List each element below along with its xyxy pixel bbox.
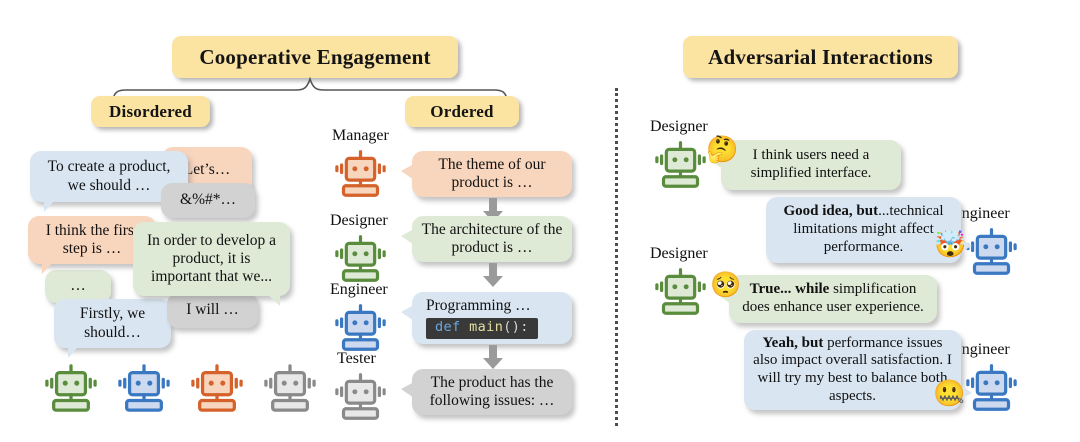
cooperative-engagement-title: Cooperative Engagement	[172, 36, 458, 78]
figure-canvas: Cooperative Engagement Disordered Ordere…	[0, 0, 1080, 442]
robot-icon-blue	[115, 362, 173, 414]
adversarial-bubble-4: Yeah, but performance issues also impact…	[744, 330, 961, 410]
robot-icon-green	[332, 233, 389, 284]
robot-icon-gray	[261, 362, 319, 414]
role-label-designer: Designer	[650, 118, 708, 136]
list-item: I will …	[167, 293, 258, 328]
role-label-tester: Tester	[337, 350, 376, 368]
zipper-mouth-face-emoji: 🤐	[933, 381, 965, 407]
list-item: In order to develop a product, it is imp…	[133, 222, 290, 296]
role-label-manager: Manager	[332, 127, 389, 145]
thinking-face-emoji: 🤔	[706, 137, 738, 163]
panel-divider	[615, 88, 618, 426]
adversarial-bubble-2: Good idea, but...technical limitations m…	[766, 197, 961, 263]
adversarial-bubble-3: True... while simplification does enhanc…	[729, 275, 937, 323]
list-item: Firstly, we should…	[54, 299, 171, 348]
cooperative-engagement-title-text: Cooperative Engagement	[199, 45, 430, 70]
list-item: &%#*…	[161, 183, 255, 218]
robot-icon-orange	[188, 362, 246, 414]
robot-icon-green	[42, 362, 100, 414]
pleading-face-emoji: 🥺	[710, 272, 741, 297]
arrow-down-icon	[483, 263, 503, 287]
adversarial-bubble-1: I think users need a simplified interfac…	[721, 140, 901, 190]
ordered-bubble-manager: The theme of our product is …	[412, 151, 572, 197]
ordered-bubble-designer: The architecture of the product is …	[412, 216, 572, 262]
code-snippet: def main():	[426, 318, 538, 339]
role-label-engineer: Engineer	[330, 281, 388, 299]
adversarial-interactions-title-text: Adversarial Interactions	[708, 45, 933, 70]
adversarial-interactions-title: Adversarial Interactions	[683, 36, 958, 78]
arrow-down-icon	[483, 345, 503, 369]
exploding-head-emoji: 🤯	[934, 232, 966, 258]
disordered-label: Disordered	[91, 96, 210, 127]
role-label-designer: Designer	[650, 245, 708, 263]
robot-icon-blue	[332, 302, 389, 353]
ordered-bubble-engineer: Programming … def main():	[412, 292, 572, 344]
robot-icon-green	[652, 266, 709, 317]
programming-label: Programming …	[426, 297, 531, 315]
role-label-designer: Designer	[330, 212, 388, 230]
robot-icon-green	[652, 139, 709, 190]
ordered-label: Ordered	[405, 96, 519, 127]
ordered-label-text: Ordered	[430, 102, 493, 122]
disordered-label-text: Disordered	[109, 102, 192, 122]
robot-icon-gray	[332, 371, 389, 422]
ordered-bubble-tester: The product has the following issues: …	[412, 369, 572, 415]
robot-icon-orange	[332, 148, 389, 199]
